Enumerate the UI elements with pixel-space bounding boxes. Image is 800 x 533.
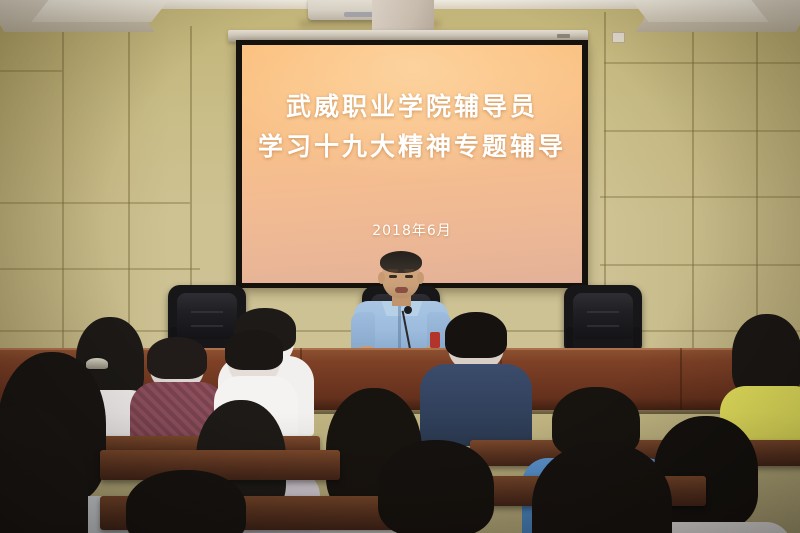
speaker-hair (380, 251, 422, 273)
slide-title-line-1: 武威职业学院辅导员 (286, 87, 538, 127)
attendee-hair (445, 312, 507, 358)
wall-seam (604, 62, 800, 64)
speaker-mouth (395, 287, 408, 293)
attendee-hair (225, 330, 283, 370)
screen-roller-knob (557, 34, 570, 38)
wall-outlet (612, 32, 625, 43)
slide-surface: 武威职业学院辅导员 学习十九大精神专题辅导 2018年6月 (242, 45, 582, 283)
speaker-eye-right (405, 275, 413, 278)
attendee-hair (126, 470, 246, 533)
wall-seam (0, 268, 200, 270)
speaker-ear-right (417, 272, 424, 284)
slide-content: 武威职业学院辅导员 学习十九大精神专题辅导 2018年6月 (242, 45, 582, 283)
wall-seam (600, 196, 800, 198)
wall-seam (0, 70, 62, 72)
wall-seam (0, 202, 190, 204)
attendee-torso (420, 364, 532, 446)
wall-seam (604, 130, 800, 132)
audience-area: BG AND-LINER (0, 300, 800, 533)
wall-seam (600, 264, 800, 266)
speaker-eye-left (389, 275, 397, 278)
ceiling-soffit-left-face (31, 0, 168, 22)
attendee-hair (378, 440, 494, 533)
attendee-hair (147, 337, 207, 379)
slide-title-line-2: 学习十九大精神专题辅导 (258, 127, 566, 167)
speaker-eyebrow-left (388, 269, 398, 272)
projection-screen: 武威职业学院辅导员 学习十九大精神专题辅导 2018年6月 (236, 40, 588, 288)
speaker-ear-left (378, 272, 385, 284)
slide-date: 2018年6月 (372, 220, 452, 240)
speaker-eyebrow-right (404, 269, 414, 272)
hair-clip-icon (86, 358, 108, 369)
ceiling-soffit-right-face (631, 0, 768, 22)
lecture-hall-photo: 武威职业学院辅导员 学习十九大精神专题辅导 2018年6月 (0, 0, 800, 533)
